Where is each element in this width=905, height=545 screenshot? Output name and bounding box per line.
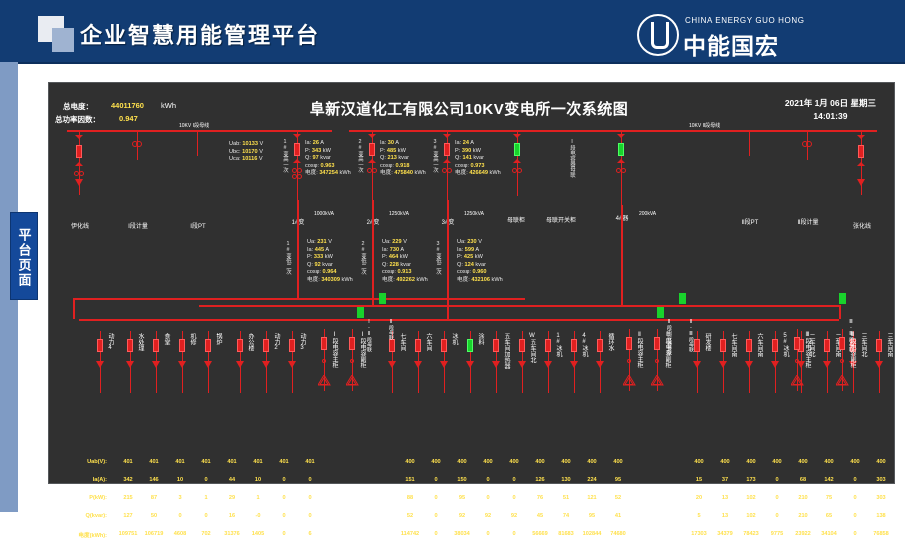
ground-icon bbox=[823, 361, 831, 368]
breaker-icon[interactable] bbox=[597, 339, 603, 352]
lv3-r5-u: kWh bbox=[492, 277, 503, 283]
table-cell: 401 bbox=[141, 459, 167, 465]
ground-icon bbox=[596, 361, 604, 368]
table-cell: 0 bbox=[501, 477, 527, 483]
lv1-r2-v: 333 bbox=[314, 254, 323, 260]
ground-icon bbox=[544, 361, 552, 368]
table-cell: 303 bbox=[868, 495, 894, 501]
breaker-icon[interactable] bbox=[321, 337, 327, 350]
ground-icon bbox=[857, 179, 865, 186]
table-cell: 0 bbox=[475, 477, 501, 483]
bus-tie-indicator[interactable] bbox=[357, 307, 364, 318]
lv-drop-tr4 bbox=[621, 205, 623, 305]
table-cell: 400 bbox=[527, 459, 553, 465]
table-cell: 10 bbox=[167, 477, 193, 483]
top-label-4: 母联开关柜 bbox=[541, 215, 581, 224]
feeder-bay[interactable]: 七车间 bbox=[389, 331, 411, 411]
hv3-r0-u: A bbox=[470, 140, 474, 146]
sidebar-item-platform-page[interactable]: 平台页面 bbox=[10, 212, 38, 300]
breaker-icon[interactable] bbox=[76, 145, 82, 158]
brand-english-name: CHINA ENERGY GUO HONG bbox=[685, 16, 805, 25]
table-cell: 401 bbox=[193, 459, 219, 465]
breaker-icon[interactable] bbox=[654, 337, 660, 350]
table-cell: 400 bbox=[712, 459, 738, 465]
table-cell: 16 bbox=[219, 513, 245, 519]
line-pt2 bbox=[749, 130, 750, 156]
feeder-bay[interactable]: 5#冰机 bbox=[772, 331, 794, 411]
hv1-r0-k: Ia: bbox=[305, 140, 311, 146]
feeder-bay[interactable]: Ⅰ段电容主柜 bbox=[321, 329, 343, 409]
hv1-r2-v: 97 bbox=[312, 155, 318, 161]
table-cell: 0 bbox=[193, 513, 219, 519]
table-cell: 130 bbox=[553, 477, 579, 483]
hv2-r0-u: A bbox=[395, 140, 399, 146]
bus-10kv-section1 bbox=[67, 130, 332, 132]
feeder-bay[interactable]: 食堂 bbox=[153, 331, 175, 411]
bus-tie-label: Ⅱ段母联 bbox=[387, 319, 394, 340]
breaker-icon[interactable] bbox=[179, 339, 185, 352]
bus-tie-label: Ⅱ段电容器母联 bbox=[665, 319, 672, 355]
lv3-r2-v: 425 bbox=[464, 254, 473, 260]
line-tie bbox=[517, 130, 518, 196]
feeder-label: Ⅱ段电容主柜 bbox=[635, 331, 642, 368]
hv1-r1-k: P: bbox=[305, 148, 310, 154]
ct-icon bbox=[447, 168, 452, 173]
table-cell: 74680 bbox=[601, 531, 635, 537]
feeder-label: 五车间加热器 bbox=[502, 333, 509, 369]
lv1-r3-k: Q: bbox=[307, 262, 313, 268]
lv3-r3-k: Q: bbox=[457, 262, 463, 268]
lv-drop-tr3 bbox=[447, 200, 449, 319]
feeder-label: 涂料 bbox=[476, 333, 483, 345]
breaker-icon[interactable] bbox=[720, 339, 726, 352]
ground-icon bbox=[771, 361, 779, 368]
lv2-r2-u: kW bbox=[400, 254, 408, 260]
feeder-bay[interactable]: W五车间北 bbox=[519, 331, 541, 411]
breaker-icon[interactable] bbox=[127, 339, 133, 352]
bus-tie-indicator[interactable] bbox=[379, 293, 386, 304]
table-cell: 75 bbox=[816, 495, 842, 501]
disconnector-icon bbox=[368, 159, 376, 163]
clock-time: 14:01:39 bbox=[785, 110, 876, 123]
table-cell: 400 bbox=[790, 459, 816, 465]
table-cell: 127 bbox=[115, 513, 141, 519]
hv2-r1-u: kW bbox=[398, 148, 406, 154]
breaker-icon[interactable] bbox=[369, 143, 375, 156]
table-cell: 0 bbox=[475, 495, 501, 501]
bus-tie-indicator[interactable] bbox=[657, 307, 664, 318]
lv1-r3-u: kvar bbox=[322, 262, 333, 268]
top-label-6: Ⅱ段PT bbox=[733, 217, 767, 226]
table-cell: 0 bbox=[297, 495, 323, 501]
hv3-r2-u: kvar bbox=[473, 155, 484, 161]
single-line-diagram-panel: 总电度： 44011760 kWh 总功率因数： 0.947 阜新汉道化工有限公… bbox=[48, 82, 895, 484]
table-cell: 400 bbox=[686, 459, 712, 465]
hv3-r2-k: Q: bbox=[455, 155, 461, 161]
table-cell: 0 bbox=[271, 495, 297, 501]
breaker-icon[interactable] bbox=[467, 339, 473, 352]
breaker-icon[interactable] bbox=[694, 339, 700, 352]
breaker-icon[interactable] bbox=[289, 339, 295, 352]
brand-block: CHINA ENERGY GUO HONG 中能国宏 bbox=[637, 10, 887, 56]
feeder-label: 1#冰机 bbox=[554, 333, 561, 357]
breaker-icon[interactable] bbox=[263, 339, 269, 352]
hv3-r1-k: P: bbox=[455, 148, 460, 154]
table-cell: 400 bbox=[501, 459, 527, 465]
ct-icon bbox=[79, 171, 84, 176]
breaker-icon[interactable] bbox=[746, 339, 752, 352]
switch-icon bbox=[795, 359, 799, 363]
total-energy-label: 总电度： bbox=[63, 101, 93, 112]
bus-10kv-section2 bbox=[349, 130, 877, 132]
table-cell: 13 bbox=[712, 495, 738, 501]
uca-unit: V bbox=[259, 156, 263, 162]
table-cell: 102 bbox=[738, 513, 764, 519]
table-cell: 87 bbox=[141, 495, 167, 501]
hv3-r0-k: Ia: bbox=[455, 140, 461, 146]
tie-breaker-icon[interactable] bbox=[514, 143, 520, 156]
diagram-title: 阜新汉道化工有限公司10KV变电所一次系统图 bbox=[254, 98, 684, 119]
total-energy-unit: kWh bbox=[161, 101, 176, 110]
ground-icon bbox=[126, 361, 134, 368]
tr1-capacity: 1000kVA bbox=[314, 211, 334, 217]
lv-cabinet-1: 1#变低二次 bbox=[285, 241, 291, 275]
table-cell: 0 bbox=[423, 513, 449, 519]
ground-icon bbox=[745, 361, 753, 368]
lv1-r2-k: P: bbox=[307, 254, 312, 260]
hv1-r3-k: cosφ: bbox=[305, 163, 319, 169]
feeder-label: 研发楼 bbox=[703, 333, 710, 351]
feeder-bay[interactable]: 六车间 bbox=[415, 331, 437, 411]
breaker-icon[interactable] bbox=[349, 337, 355, 350]
feeder-label: 机修 bbox=[188, 333, 195, 345]
cabinet-label-4: Ⅰ段电容器母联 bbox=[569, 139, 575, 177]
feeder-bay[interactable]: 六车间南 bbox=[746, 331, 768, 411]
square-logo-icon-secondary bbox=[52, 28, 74, 52]
breaker-icon[interactable] bbox=[153, 339, 159, 352]
capacitor-delta-icon bbox=[651, 375, 664, 386]
table-cell: 215 bbox=[115, 495, 141, 501]
lv-cabinet-3: 3#变低二次 bbox=[435, 241, 441, 275]
feeder-label: 七车间南 bbox=[729, 333, 736, 357]
capacitor-delta-icon bbox=[346, 375, 359, 386]
guohong-circle-logo-icon bbox=[637, 14, 679, 56]
top-label-0: 伊化线 bbox=[63, 221, 97, 230]
lv2-r5-v: 492262 bbox=[396, 277, 415, 283]
breaker-icon[interactable] bbox=[839, 337, 845, 350]
lv-meter-3: Ua: 230 V Ia: 599 A P: 425 kW Q: 124 kva… bbox=[457, 239, 503, 285]
hv1-r4-v: 347254 bbox=[319, 170, 338, 176]
lv-meter-1: Ua: 231 V Ia: 445 A P: 333 kW Q: 92 kvar… bbox=[307, 239, 353, 285]
feeder-bay[interactable]: 动力3 bbox=[289, 331, 311, 411]
breaker-icon[interactable] bbox=[97, 339, 103, 352]
breaker-icon[interactable] bbox=[824, 339, 830, 352]
breaker-icon[interactable] bbox=[626, 337, 632, 350]
ct-icon bbox=[517, 168, 522, 173]
vt-icon bbox=[136, 141, 142, 147]
lv-bus-section2 bbox=[199, 305, 839, 307]
switch-icon bbox=[840, 359, 844, 363]
table-cell: 400 bbox=[579, 459, 605, 465]
table-cell: 95 bbox=[579, 513, 605, 519]
table-cell: 0 bbox=[193, 477, 219, 483]
lv3-r5-v: 432106 bbox=[471, 277, 490, 283]
table-cell: 401 bbox=[115, 459, 141, 465]
table-cell: 151 bbox=[397, 477, 423, 483]
breaker-icon[interactable] bbox=[205, 339, 211, 352]
top-label-8: 张化线 bbox=[845, 221, 879, 230]
breaker-icon[interactable] bbox=[794, 337, 800, 350]
tr4-capacity: 200kVA bbox=[639, 211, 656, 217]
row-header-3: Q(kvar): bbox=[55, 513, 107, 519]
table-cell: 1 bbox=[245, 495, 271, 501]
lv3-r1-v: 599 bbox=[465, 247, 474, 253]
feeder-label: Ⅰ段电容副柜 bbox=[358, 331, 365, 368]
breaker-icon[interactable] bbox=[294, 143, 300, 156]
disconnector-icon bbox=[617, 159, 625, 163]
feeder-bay[interactable]: 动力4 bbox=[97, 331, 119, 411]
breaker-icon[interactable] bbox=[858, 145, 864, 158]
disconnector-icon bbox=[75, 135, 83, 139]
breaker-icon[interactable] bbox=[772, 339, 778, 352]
feeder-label: 锅炉 bbox=[214, 333, 221, 345]
ground-icon bbox=[719, 361, 727, 368]
feeder-label: 六车间 bbox=[424, 333, 431, 351]
hv1-r0-v: 26 bbox=[313, 140, 319, 146]
line-tr2 bbox=[372, 130, 373, 200]
hv2-r0-v: 30 bbox=[388, 140, 394, 146]
lv3-r0-u: V bbox=[478, 239, 482, 245]
table-cell: 95 bbox=[449, 495, 475, 501]
table-cell: 0 bbox=[271, 477, 297, 483]
table-cell: 102 bbox=[738, 495, 764, 501]
table-cell: 0 bbox=[764, 477, 790, 483]
disconnector-icon bbox=[75, 162, 83, 166]
switch-icon bbox=[350, 359, 354, 363]
ground-icon bbox=[414, 361, 422, 368]
bus-label-10kv-left: 10KV Ⅰ段母线 bbox=[179, 122, 209, 129]
breaker-icon[interactable] bbox=[493, 339, 499, 352]
feeder-bay[interactable]: 五车间加热器 bbox=[493, 331, 515, 411]
lv3-r4-v: 0.960 bbox=[472, 269, 486, 275]
feeder-bay[interactable]: 冰机 bbox=[441, 331, 463, 411]
lv1-r0-v: 231 bbox=[317, 239, 326, 245]
table-cell: 0 bbox=[423, 477, 449, 483]
table-cell: 10 bbox=[245, 477, 271, 483]
hv2-r4-k: 电度: bbox=[380, 170, 393, 176]
lv1-r4-k: cosφ: bbox=[307, 269, 321, 275]
bus-tie-indicator[interactable] bbox=[839, 293, 846, 304]
ground-icon bbox=[466, 361, 474, 368]
hv2-r2-v: 213 bbox=[387, 155, 396, 161]
feeder-label: W五车间北 bbox=[528, 333, 535, 363]
uab-key: Uab: bbox=[229, 141, 241, 147]
bus-tie-label: Ⅰ-Ⅱ段母联 bbox=[365, 319, 372, 352]
feeder-bay[interactable]: Ⅲ段电容主柜 bbox=[794, 329, 816, 409]
hv1-r4-k: 电度: bbox=[305, 170, 318, 176]
table-cell: 224 bbox=[579, 477, 605, 483]
brand-chinese-name: 中能国宏 bbox=[683, 27, 779, 61]
table-cell: 13 bbox=[712, 513, 738, 519]
hv3-r1-v: 390 bbox=[462, 148, 471, 154]
lv3-r4-k: cosφ: bbox=[457, 269, 471, 275]
capacitor-delta-icon bbox=[318, 375, 331, 386]
table-cell: 45 bbox=[527, 513, 553, 519]
switch-icon bbox=[322, 359, 326, 363]
disconnector-icon bbox=[443, 134, 451, 138]
hv-meter-1: Ia: 26 A P: 343 kW Q: 97 kvar cosφ: 0.96… bbox=[305, 140, 351, 178]
table-cell: 401 bbox=[271, 459, 297, 465]
hv3-r2-v: 141 bbox=[462, 155, 471, 161]
breaker-icon[interactable] bbox=[415, 339, 421, 352]
feeder-bay[interactable]: 机修 bbox=[179, 331, 201, 411]
table-cell: 50 bbox=[141, 513, 167, 519]
hv1-r0-u: A bbox=[320, 140, 324, 146]
feeder-bay[interactable]: 七车间南 bbox=[720, 331, 742, 411]
table-cell: 400 bbox=[816, 459, 842, 465]
vt-icon bbox=[806, 141, 812, 147]
table-cell: 126 bbox=[527, 477, 553, 483]
ground-icon bbox=[75, 179, 83, 186]
table-cell: 20 bbox=[686, 495, 712, 501]
feeder-bay[interactable]: 涂料 bbox=[467, 331, 489, 411]
uca-key: Uca: bbox=[229, 156, 241, 162]
top-label-7: Ⅱ段计量 bbox=[791, 217, 825, 226]
table-cell: 400 bbox=[868, 459, 894, 465]
top-label-3: 母联柜 bbox=[501, 215, 531, 224]
breaker-icon[interactable] bbox=[441, 339, 447, 352]
breaker-icon[interactable] bbox=[571, 339, 577, 352]
lv1-r5-v: 340309 bbox=[321, 277, 340, 283]
breaker-icon[interactable] bbox=[519, 339, 525, 352]
breaker-icon[interactable] bbox=[545, 339, 551, 352]
lv-cabinet-2: 2#变低二次 bbox=[360, 241, 366, 275]
feeder-label: 动力2 bbox=[272, 333, 279, 351]
table-cell: 0 bbox=[764, 513, 790, 519]
ground-icon bbox=[518, 361, 526, 368]
table-cell: 400 bbox=[842, 459, 868, 465]
line-pt1 bbox=[197, 130, 198, 156]
table-cell: 44 bbox=[219, 477, 245, 483]
lv2-r2-k: P: bbox=[382, 254, 387, 260]
breaker-icon[interactable] bbox=[237, 339, 243, 352]
feeder-label: 办公楼 bbox=[246, 333, 253, 351]
feeder-label: 水处理 bbox=[136, 333, 143, 351]
hv1-r1-u: kW bbox=[323, 148, 331, 154]
table-cell: 74 bbox=[553, 513, 579, 519]
feeder-bay[interactable]: 三车间南 bbox=[876, 331, 898, 411]
breaker-icon[interactable] bbox=[444, 143, 450, 156]
hv1-r2-k: Q: bbox=[305, 155, 311, 161]
hv3-r4-v: 426649 bbox=[469, 170, 488, 176]
hv2-r1-k: P: bbox=[380, 148, 385, 154]
lv2-r4-k: cosφ: bbox=[382, 269, 396, 275]
hv1-r1-v: 343 bbox=[312, 148, 321, 154]
table-cell: 121 bbox=[579, 495, 605, 501]
lv1-r0-k: Ua: bbox=[307, 239, 316, 245]
feeder-label: 七车间 bbox=[398, 333, 405, 351]
table-cell: 88 bbox=[397, 495, 423, 501]
feeder-label: 5#冰机 bbox=[781, 333, 788, 357]
bus-tie-indicator[interactable] bbox=[679, 293, 686, 304]
lv1-r5-k: 电度: bbox=[307, 277, 320, 283]
feeder-bay[interactable]: 水处理 bbox=[127, 331, 149, 411]
hv2-r4-v: 475840 bbox=[394, 170, 413, 176]
breaker-icon[interactable] bbox=[389, 339, 395, 352]
cabinet-label-1: 1#变高一次 bbox=[282, 139, 288, 173]
ubc-key: Ubc: bbox=[229, 149, 241, 155]
line-tr3 bbox=[447, 130, 448, 200]
table-cell: 400 bbox=[738, 459, 764, 465]
lv2-r0-v: 229 bbox=[392, 239, 401, 245]
breaker-icon[interactable] bbox=[876, 339, 882, 352]
disconnector-icon bbox=[293, 159, 301, 163]
feeder-label: 三车间南 bbox=[885, 333, 892, 357]
hv2-r2-k: Q: bbox=[380, 155, 386, 161]
ground-icon bbox=[204, 361, 212, 368]
table-cell: 210 bbox=[790, 513, 816, 519]
ground-icon bbox=[236, 361, 244, 368]
feeder-bay[interactable]: 循环水 bbox=[597, 331, 619, 411]
feeder-bay[interactable]: 锅炉 bbox=[205, 331, 227, 411]
table-cell: 0 bbox=[842, 495, 868, 501]
line-tr1 bbox=[297, 130, 298, 200]
breaker-icon[interactable] bbox=[618, 143, 624, 156]
bus-label-10kv-right: 10KV Ⅱ段母线 bbox=[689, 122, 720, 129]
ground-icon bbox=[262, 361, 270, 368]
bus-tie-label: Ⅲ-Ⅲ段母联 bbox=[847, 319, 854, 352]
table-cell: 0 bbox=[423, 495, 449, 501]
lv3-r2-k: P: bbox=[457, 254, 462, 260]
feeder-bay[interactable]: 办公楼 bbox=[237, 331, 259, 411]
table-cell: 15 bbox=[686, 477, 712, 483]
feeder-bay[interactable]: 动力2 bbox=[263, 331, 285, 411]
page-title: 企业智慧用能管理平台 bbox=[80, 18, 320, 50]
uab-unit: V bbox=[260, 141, 264, 147]
feeder-bay[interactable]: 研发楼 bbox=[694, 331, 716, 411]
ground-icon bbox=[388, 361, 396, 368]
table-cell: 0 bbox=[271, 513, 297, 519]
top-label-2: Ⅰ段PT bbox=[181, 221, 215, 230]
table-cell: 6 bbox=[293, 531, 327, 537]
clock-date: 2021年 1月 06日 星期三 bbox=[785, 97, 876, 110]
hv3-r1-u: kW bbox=[473, 148, 481, 154]
switch-icon bbox=[627, 359, 631, 363]
lv2-r3-v: 228 bbox=[389, 262, 398, 268]
disconnector-icon bbox=[617, 134, 625, 138]
lv3-r0-k: Ua: bbox=[457, 239, 466, 245]
disconnector-icon bbox=[443, 159, 451, 163]
lv2-r1-v: 730 bbox=[390, 247, 399, 253]
feeder-label: Ⅰ段电容主柜 bbox=[330, 331, 337, 368]
table-cell: 0 bbox=[297, 477, 323, 483]
feeder-bay[interactable]: 1#冰机 bbox=[545, 331, 567, 411]
hv-meter-2: Ia: 30 A P: 485 kW Q: 213 kvar cosφ: 0.9… bbox=[380, 140, 426, 178]
power-factor-value: 0.947 bbox=[119, 114, 138, 123]
table-cell: 401 bbox=[297, 459, 323, 465]
hv3-r4-k: 电度: bbox=[455, 170, 468, 176]
table-cell: 65 bbox=[816, 513, 842, 519]
feeder-bay[interactable]: 4#冰机 bbox=[571, 331, 593, 411]
hv2-r3-v: 0.918 bbox=[395, 163, 409, 169]
switch-icon bbox=[655, 359, 659, 363]
table-cell: 52 bbox=[397, 513, 423, 519]
table-cell: 401 bbox=[245, 459, 271, 465]
table-cell: 400 bbox=[423, 459, 449, 465]
lv-bus-riser-right bbox=[839, 305, 841, 319]
feeder-bay[interactable]: Ⅱ段电容主柜 bbox=[626, 329, 648, 409]
disconnector-icon bbox=[293, 134, 301, 138]
